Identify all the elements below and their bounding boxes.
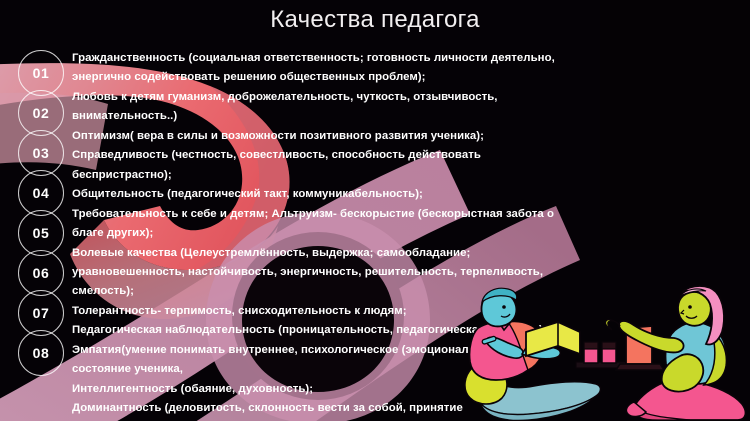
- badge-label: 04: [33, 185, 50, 201]
- text-line: энергично содействовать решению обществе…: [72, 68, 672, 87]
- badge-label: 06: [33, 265, 50, 281]
- badge-label: 02: [33, 105, 50, 121]
- slide-canvas: Качества педагога 01 02 03 04 05 06 07 0…: [0, 0, 750, 421]
- cup-right-rim: [602, 342, 616, 349]
- text-line: Требовательность к себе и детям; Альтруи…: [72, 205, 672, 224]
- right-figure-hand: [605, 320, 620, 330]
- text-line: Любовь к детям гуманизм, доброжелательно…: [72, 88, 672, 107]
- two-people-talking-illustration: [430, 276, 750, 421]
- left-figure-eye: [502, 305, 506, 309]
- person-with-book: [465, 288, 601, 420]
- badge-label: 07: [33, 305, 50, 321]
- text-line: Справедливость (честность, совестливость…: [72, 146, 672, 165]
- badge-label: 08: [33, 345, 50, 361]
- text-line: беспристрастно);: [72, 166, 672, 185]
- badge-label: 05: [33, 225, 50, 241]
- badge-list: 01 02 03 04 05 06 07 08: [18, 50, 70, 370]
- text-line: Общительность (педагогический такт, комм…: [72, 185, 672, 204]
- page-title: Качества педагога: [0, 6, 750, 34]
- badge-label: 03: [33, 145, 50, 161]
- badge-label: 01: [33, 65, 50, 81]
- text-line: благе других);: [72, 224, 672, 243]
- text-line: Оптимизм( вера в силы и возможности пози…: [72, 127, 672, 146]
- badge-08: 08: [18, 330, 64, 376]
- cup-left-rim: [584, 342, 598, 349]
- laptop-base: [616, 364, 664, 370]
- text-line: Гражданственность (социальная ответствен…: [72, 49, 672, 68]
- text-line: внимательность..): [72, 107, 672, 126]
- right-figure-eye: [688, 305, 692, 309]
- text-line: Волевые качества (Целеустремлённость, вы…: [72, 244, 672, 263]
